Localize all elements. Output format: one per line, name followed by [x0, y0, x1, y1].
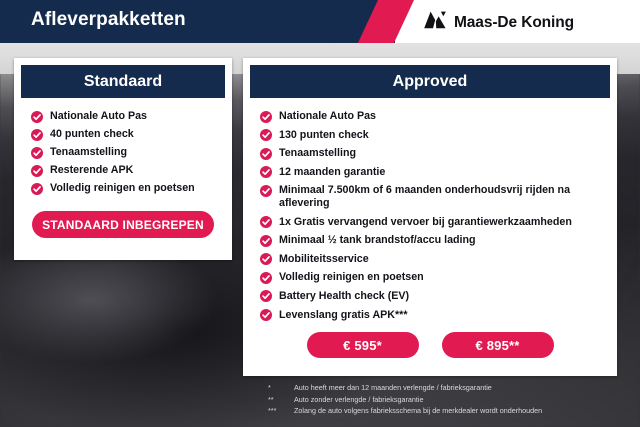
package-card-standaard: Standaard Nationale Auto Pas: [14, 58, 232, 260]
check-circle-icon: [31, 147, 43, 159]
list-item: 40 punten check: [31, 128, 222, 141]
list-item: Volledig reinigen en poetsen: [260, 271, 607, 284]
feature-label: Minimaal 7.500km of 6 maanden onderhouds…: [279, 184, 607, 210]
feature-label: Volledig reinigen en poetsen: [279, 271, 424, 284]
check-circle-icon: [260, 129, 272, 141]
list-item: Volledig reinigen en poetsen: [31, 182, 222, 195]
list-item: 130 punten check: [260, 129, 607, 142]
list-item: Resterende APK: [31, 164, 222, 177]
footnote-mark: ***: [268, 405, 288, 417]
list-item: Battery Health check (EV): [260, 290, 607, 303]
feature-label: Resterende APK: [50, 164, 133, 177]
check-circle-icon: [260, 272, 272, 284]
list-item: Minimaal 7.500km of 6 maanden onderhouds…: [260, 184, 607, 210]
check-circle-icon: [260, 166, 272, 178]
feature-list-approved: Nationale Auto Pas 130 punten check: [243, 110, 617, 322]
price-button-595[interactable]: € 595*: [307, 332, 419, 358]
list-item: Levenslang gratis APK***: [260, 309, 607, 322]
feature-label: Mobiliteitsservice: [279, 253, 369, 266]
feature-label: Battery Health check (EV): [279, 290, 409, 303]
price-button-895[interactable]: € 895**: [442, 332, 554, 358]
check-circle-icon: [260, 309, 272, 321]
package-card-approved: Approved Nationale Auto Pas: [243, 58, 617, 376]
check-circle-icon: [260, 235, 272, 247]
feature-label: Minimaal ½ tank brandstof/accu lading: [279, 234, 476, 247]
feature-label: Tenaamstelling: [50, 146, 127, 159]
footnote-triple-asterisk: *** Zolang de auto volgens fabrieksschem…: [268, 405, 628, 417]
brand-name: Maas-De Koning: [454, 14, 574, 32]
feature-label: Levenslang gratis APK***: [279, 309, 408, 322]
feature-label: Volledig reinigen en poetsen: [50, 182, 195, 195]
check-circle-icon: [260, 111, 272, 123]
feature-list-standaard: Nationale Auto Pas 40 punten check: [14, 110, 232, 195]
footnotes: * Auto heeft meer dan 12 maanden verleng…: [268, 382, 628, 417]
list-item: Nationale Auto Pas: [260, 110, 607, 123]
list-item: Nationale Auto Pas: [31, 110, 222, 123]
footnote-mark: *: [268, 382, 288, 394]
check-circle-icon: [260, 290, 272, 302]
standaard-inbegrepen-button[interactable]: STANDAARD INBEGREPEN: [32, 211, 214, 238]
list-item: Tenaamstelling: [260, 147, 607, 160]
feature-label: Nationale Auto Pas: [50, 110, 147, 123]
feature-label: Tenaamstelling: [279, 147, 356, 160]
footnote-text: Zolang de auto volgens fabrieksschema bi…: [294, 405, 628, 417]
footnote-mark: **: [268, 394, 288, 406]
check-circle-icon: [31, 129, 43, 141]
list-item: 12 maanden garantie: [260, 166, 607, 179]
check-circle-icon: [31, 165, 43, 177]
package-title-approved: Approved: [250, 65, 610, 98]
footnote-text: Auto heeft meer dan 12 maanden verlengde…: [294, 382, 628, 394]
check-circle-icon: [260, 185, 272, 197]
maas-de-koning-m-logo-icon: [423, 10, 447, 35]
price-button-row: € 595* € 895**: [243, 332, 617, 358]
slide-canvas: Afleverpakketten Maas-De Koning Standaar…: [0, 0, 640, 427]
page-title: Afleverpakketten: [31, 9, 186, 31]
check-circle-icon: [31, 183, 43, 195]
check-circle-icon: [260, 253, 272, 265]
footnote-single-asterisk: * Auto heeft meer dan 12 maanden verleng…: [268, 382, 628, 394]
list-item: Tenaamstelling: [31, 146, 222, 159]
list-item: Mobiliteitsservice: [260, 253, 607, 266]
check-circle-icon: [260, 148, 272, 160]
list-item: Minimaal ½ tank brandstof/accu lading: [260, 234, 607, 247]
check-circle-icon: [31, 111, 43, 123]
feature-label: 1x Gratis vervangend vervoer bij garanti…: [279, 216, 572, 229]
package-title-standaard: Standaard: [21, 65, 225, 98]
footnote-text: Auto zonder verlengde / fabrieksgarantie: [294, 394, 628, 406]
feature-label: 40 punten check: [50, 128, 134, 141]
list-item: 1x Gratis vervangend vervoer bij garanti…: [260, 216, 607, 229]
check-circle-icon: [260, 216, 272, 228]
feature-label: 12 maanden garantie: [279, 166, 385, 179]
page-header: Afleverpakketten Maas-De Koning: [0, 0, 640, 43]
footnote-double-asterisk: ** Auto zonder verlengde / fabrieksgaran…: [268, 394, 628, 406]
feature-label: 130 punten check: [279, 129, 369, 142]
brand-lockup: Maas-De Koning: [423, 10, 574, 35]
feature-label: Nationale Auto Pas: [279, 110, 376, 123]
